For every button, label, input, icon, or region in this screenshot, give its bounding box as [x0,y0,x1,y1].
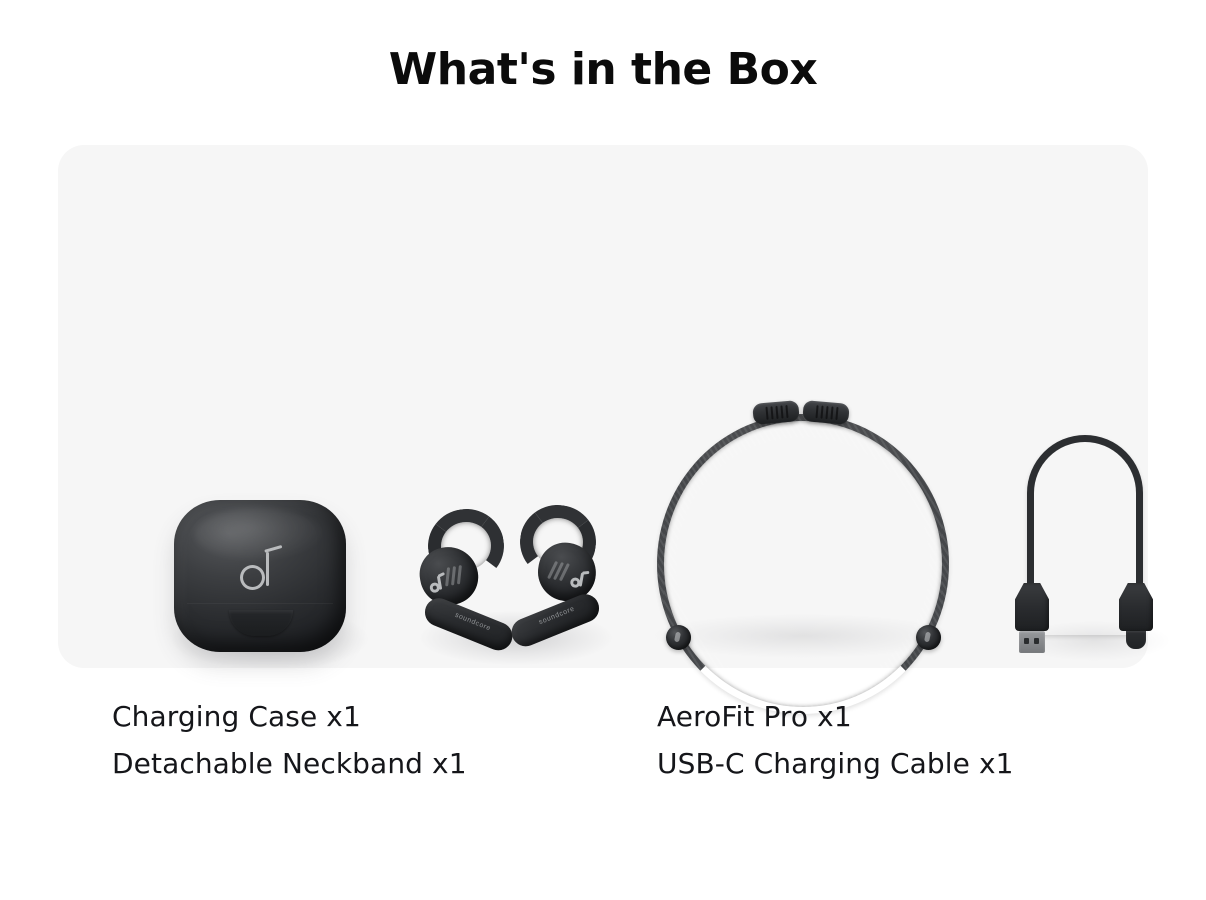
neckband-magnetic-connector-left [666,625,691,650]
charging-case-notch [229,610,293,636]
earbud-left-battery-arm: soundcore [421,594,517,654]
soundcore-logo-icon [569,568,589,590]
legend-item-charging-case: Charging Case x1 [112,700,657,733]
charging-case-body [174,500,346,652]
usb-c-metal-tip [1126,631,1146,649]
usb-a-metal-tip [1019,631,1045,653]
earbud-right-battery-arm: soundcore [507,590,603,650]
usb-c-housing [1119,583,1153,631]
page-title: What's in the Box [0,44,1206,95]
neckband-braid-texture [657,414,949,714]
neckband-adjuster-clip-left [752,400,800,425]
earbud-left-speaker-grille-icon [443,564,467,589]
soundcore-wordmark: soundcore [454,612,492,633]
usb-a-connector [1015,583,1049,653]
product-showcase-panel: soundcore [58,145,1148,668]
product-charging-case [166,490,366,675]
earbud-left: soundcore [416,507,516,657]
legend-item-usb-c-charging-cable: USB-C Charging Cable x1 [657,747,1152,780]
whats-in-the-box-page: What's in the Box [0,0,1206,900]
product-aerofit-pro-earbuds: soundcore [416,503,616,663]
earbud-right-speaker-grille-icon [548,560,572,585]
usb-a-housing [1015,583,1049,631]
soundcore-wordmark: soundcore [538,605,576,626]
neckband-adjuster-clip-right [802,400,850,425]
usb-c-connector [1119,583,1153,649]
box-contents-legend: Charging Case x1 AeroFit Pro x1 Detachab… [112,700,1152,780]
earbud-right: soundcore [508,503,608,653]
product-detachable-neckband [643,400,963,665]
legend-item-detachable-neckband: Detachable Neckband x1 [112,747,657,780]
product-usb-c-charging-cable [1013,425,1173,665]
neckband-magnetic-connector-right [916,625,941,650]
soundcore-logo-icon [240,544,282,590]
legend-item-aerofit-pro: AeroFit Pro x1 [657,700,1152,733]
